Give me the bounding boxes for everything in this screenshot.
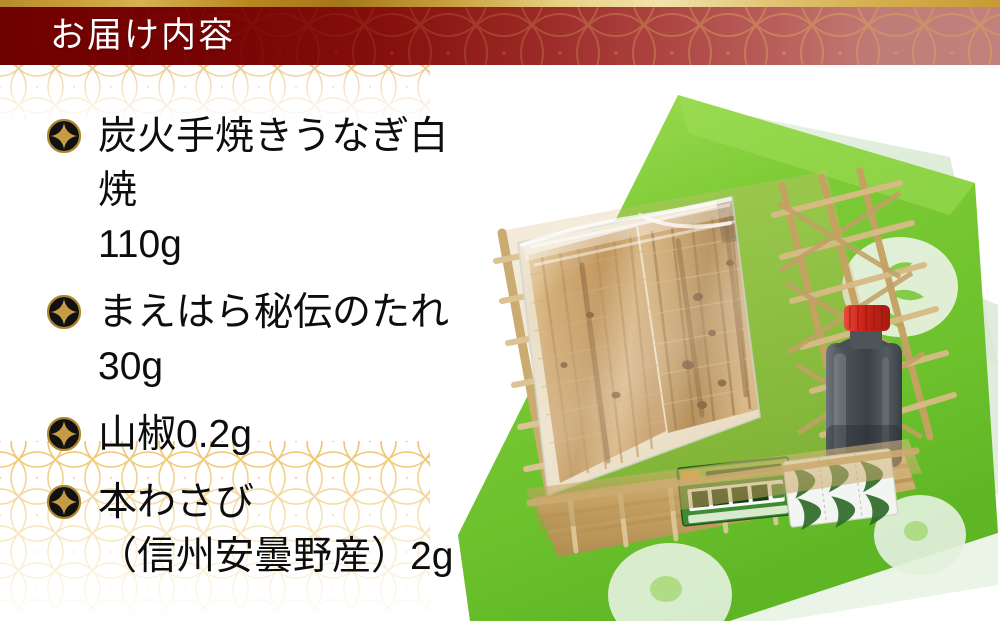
list-item-label: 山椒0.2g (98, 408, 470, 462)
gold-star-medallion-icon (47, 295, 81, 329)
section-header: お届け内容 (0, 0, 1000, 65)
gold-star-medallion-icon (47, 417, 81, 451)
header-gold-bar (0, 0, 1000, 7)
list-item: 山椒0.2g (0, 408, 470, 462)
list-item-origin: （信州安曇野産）2g (98, 530, 470, 584)
contents-list: 炭火手焼きうなぎ白焼 110g まえはら秘伝のたれ 30g (0, 65, 470, 584)
list-item: 本わさび （信州安曇野産）2g (0, 476, 470, 584)
gold-star-medallion-icon (47, 119, 81, 153)
product-contents-banner: お届け内容 炭火手焼きうなぎ白焼 110g (0, 0, 1000, 621)
list-item-amount: 110g (98, 218, 470, 272)
list-item: 炭火手焼きうなぎ白焼 110g (0, 110, 470, 272)
list-item-label: 本わさび (98, 476, 470, 530)
list-item-label: まえはら秘伝のたれ (98, 286, 470, 340)
list-item: まえはら秘伝のたれ 30g (0, 286, 470, 394)
product-photo (430, 65, 1000, 621)
list-item-amount: 30g (98, 340, 470, 394)
page-title: お届け内容 (50, 7, 235, 65)
list-item-label: 炭火手焼きうなぎ白焼 (98, 110, 470, 218)
gold-star-medallion-icon (47, 485, 81, 519)
